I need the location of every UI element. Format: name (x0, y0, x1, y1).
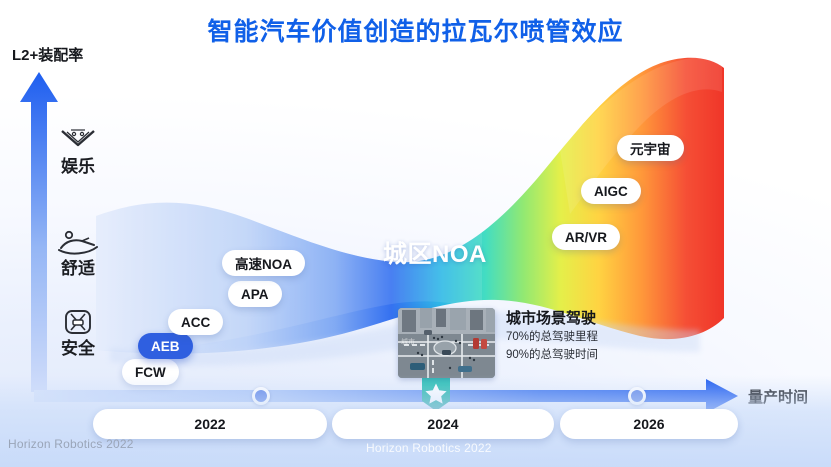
comfort-recliner-icon (56, 228, 100, 258)
timeline-label-2026-front[interactable]: 2026 (560, 409, 738, 439)
watermark-center: Horizon Robotics 2022 (366, 441, 492, 455)
city-intersection-photo: 城市 (398, 308, 495, 378)
callout-line-2: 90%的总驾驶时间 (506, 348, 598, 364)
feature-pill-aeb[interactable]: AEB (138, 333, 193, 359)
timeline-label-2022-front[interactable]: 2022 (93, 409, 327, 439)
svg-text:城市: 城市 (401, 337, 415, 346)
feature-pill-acc[interactable]: ACC (168, 309, 223, 335)
y-axis-arrow (20, 72, 58, 392)
entertainment-vr-icon (56, 126, 100, 156)
urban-noa-label: 城区NOA (383, 234, 487, 269)
timeline-label-2024-front[interactable]: 2024 (332, 409, 554, 439)
y-category-comfort: 舒适 (56, 228, 100, 278)
feature-pill-apa[interactable]: APA (228, 281, 282, 307)
infographic-canvas: 智能汽车价值创造的拉瓦尔喷管效应 L2+装配率 量产时间 娱乐 舒适 (0, 0, 831, 467)
feature-pill-arvr[interactable]: AR/VR (552, 224, 620, 250)
page-title: 智能汽车价值创造的拉瓦尔喷管效应 (0, 12, 831, 48)
callout-line-1: 70%的总驾驶里程 (506, 330, 598, 346)
safety-seatbelt-icon (56, 308, 100, 338)
feature-pill-metaverse[interactable]: 元宇宙 (617, 135, 684, 161)
y-category-label: 安全 (56, 340, 100, 358)
y-axis-label: L2+装配率 (12, 44, 83, 65)
y-category-entertainment: 娱乐 (56, 126, 100, 176)
feature-pill-highway-noa[interactable]: 高速NOA (222, 250, 305, 276)
y-category-label: 舒适 (56, 260, 100, 278)
watermark-left: Horizon Robotics 2022 (8, 437, 134, 451)
y-category-safety: 安全 (56, 308, 100, 358)
feature-pill-aigc[interactable]: AIGC (581, 178, 641, 204)
city-driving-callout: 城市 城市场景驾驶 70%的总驾驶里程 90%的总驾驶时间 (398, 308, 598, 378)
y-category-label: 娱乐 (56, 158, 100, 176)
callout-title: 城市场景驾驶 (506, 310, 598, 328)
